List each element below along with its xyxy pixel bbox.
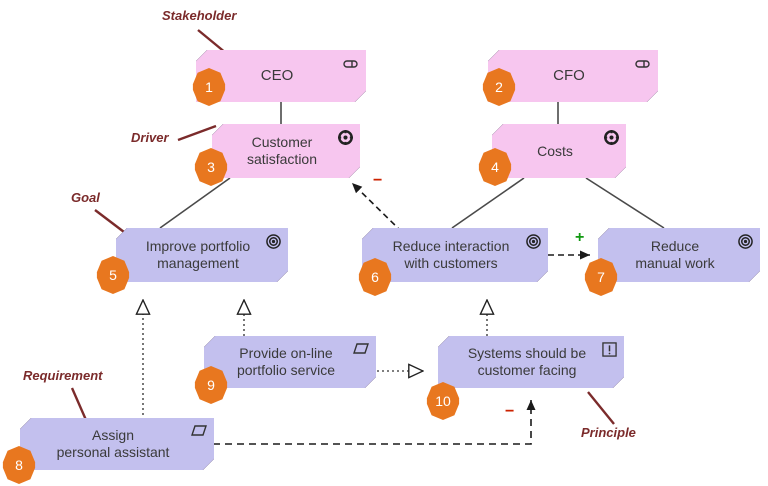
badge-number: 8: [15, 457, 23, 473]
leader-driver: [178, 126, 216, 140]
badge-number: 7: [597, 269, 605, 285]
node-goal-reduce-manual-work[interactable]: Reduce manual work: [598, 228, 760, 282]
node-driver-customer-satisfaction[interactable]: Customer satisfaction: [212, 124, 360, 178]
badge-number: 10: [435, 393, 451, 409]
steering-wheel-icon: [337, 130, 353, 146]
node-outline: [116, 228, 288, 282]
stakeholder-icon: [343, 56, 359, 72]
badge-number: 3: [207, 159, 215, 175]
node-outline: [438, 336, 624, 388]
badge-6: 6: [356, 258, 394, 296]
assoc-costs-reduce-manual-work: [586, 178, 664, 228]
leader-requirement: [72, 388, 86, 420]
badge-2: 2: [480, 68, 518, 106]
badge-number: 5: [109, 267, 117, 283]
badge-9: 9: [192, 366, 230, 404]
principle-icon: [601, 342, 617, 358]
badge-number: 6: [371, 269, 379, 285]
node-requirement-assign-personal-assistant[interactable]: Assign personal assistant: [20, 418, 214, 470]
badge-number: 1: [205, 79, 213, 95]
influence-assign-assistant-to-systems-customer: [213, 400, 531, 444]
archimate-motivation-diagram: CEO 1 CFO 2: [0, 0, 768, 486]
influence-sign-negative-customer-satisfaction: −: [373, 172, 382, 190]
influence-sign-positive-reduce-manual-work: +: [575, 229, 584, 247]
badge-number: 2: [495, 79, 503, 95]
leader-principle: [588, 392, 614, 424]
badge-5: 5: [94, 256, 132, 294]
annotation-principle: Principle: [581, 425, 636, 440]
node-goal-improve-portfolio-management[interactable]: Improve portfolio management: [116, 228, 288, 282]
badge-3: 3: [192, 148, 230, 186]
node-outline: [598, 228, 760, 282]
influence-sign-negative-systems-customer-facing: −: [505, 403, 514, 421]
badge-number: 9: [207, 377, 215, 393]
badge-number: 4: [491, 159, 499, 175]
node-principle-systems-should-be-customer-facing[interactable]: Systems should be customer facing: [438, 336, 624, 388]
target-icon: [265, 234, 281, 250]
requirement-icon: [191, 424, 207, 440]
badge-4: 4: [476, 148, 514, 186]
requirement-icon: [353, 342, 369, 358]
node-outline: [20, 418, 214, 470]
badge-7: 7: [582, 258, 620, 296]
annotation-goal: Goal: [71, 190, 100, 205]
annotation-stakeholder: Stakeholder: [162, 8, 236, 23]
target-icon: [737, 234, 753, 250]
badge-8: 8: [0, 446, 38, 484]
steering-wheel-icon: [603, 130, 619, 146]
badge-10: 10: [424, 382, 462, 420]
influence-reduce-interaction-to-customer-satisfaction: [352, 183, 402, 232]
annotation-requirement: Requirement: [23, 368, 102, 383]
annotation-driver: Driver: [131, 130, 169, 145]
badge-1: 1: [190, 68, 228, 106]
stakeholder-icon: [635, 56, 651, 72]
target-icon: [525, 234, 541, 250]
leader-goal: [95, 210, 124, 232]
